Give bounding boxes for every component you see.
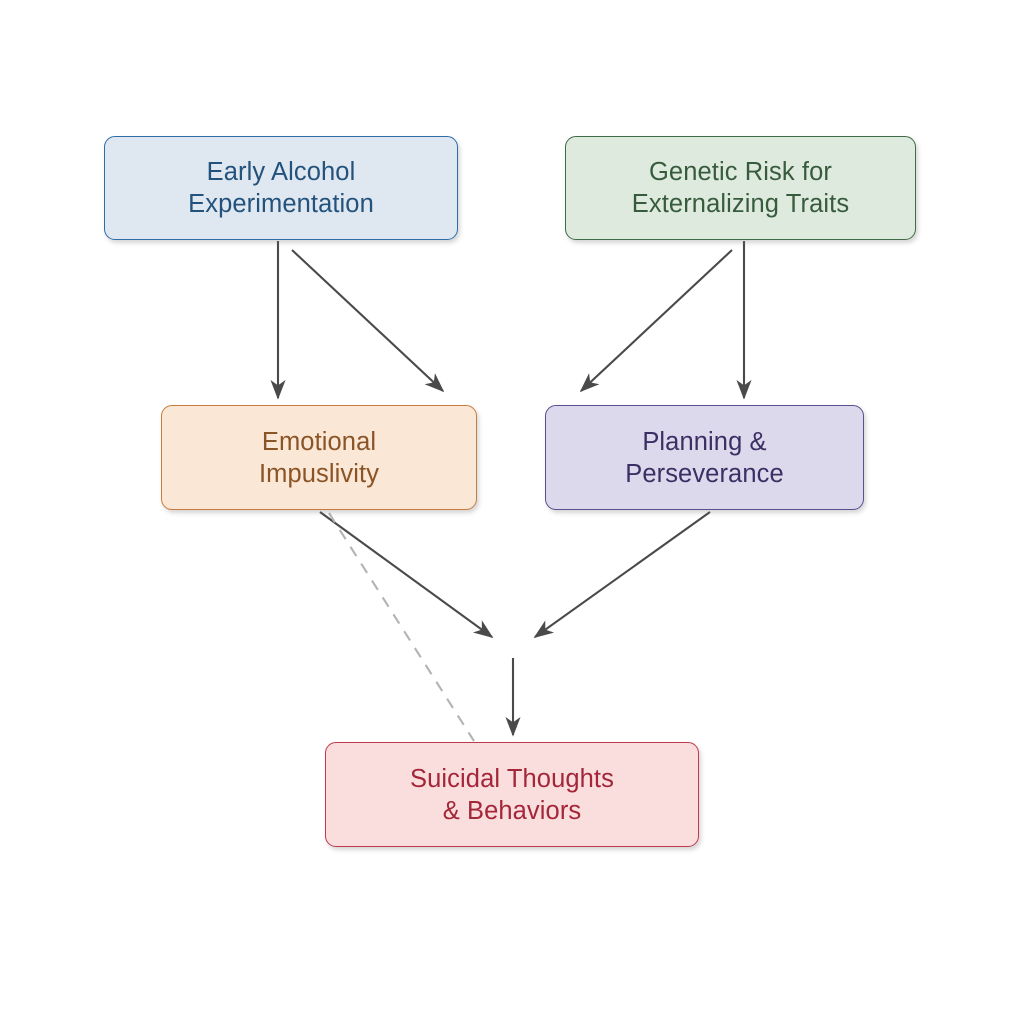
edge-genetic-to-emotional bbox=[581, 250, 732, 391]
edge-emotional-dashed-to-suicidal bbox=[329, 513, 474, 741]
node-early-alcohol[interactable]: Early Alcohol Experimentation bbox=[104, 136, 458, 240]
edge-emotional-to-junction bbox=[320, 512, 492, 637]
node-genetic-risk[interactable]: Genetic Risk for Externalizing Traits bbox=[565, 136, 916, 240]
node-emotional-impulsivity[interactable]: Emotional Impuslivity bbox=[161, 405, 477, 510]
node-suicidal-thoughts[interactable]: Suicidal Thoughts & Behaviors bbox=[325, 742, 699, 847]
node-genetic-risk-label: Genetic Risk for Externalizing Traits bbox=[622, 156, 859, 220]
edge-planning-to-junction bbox=[535, 512, 710, 637]
node-planning-perseverance[interactable]: Planning & Perseverance bbox=[545, 405, 864, 510]
edge-alcohol-to-midright bbox=[292, 250, 443, 391]
node-early-alcohol-label: Early Alcohol Experimentation bbox=[178, 156, 384, 220]
flowchart-diagram: Early Alcohol Experimentation Genetic Ri… bbox=[0, 0, 1024, 1024]
node-suicidal-thoughts-label: Suicidal Thoughts & Behaviors bbox=[400, 763, 624, 827]
node-planning-perseverance-label: Planning & Perseverance bbox=[615, 426, 794, 490]
node-emotional-impulsivity-label: Emotional Impuslivity bbox=[249, 426, 389, 490]
